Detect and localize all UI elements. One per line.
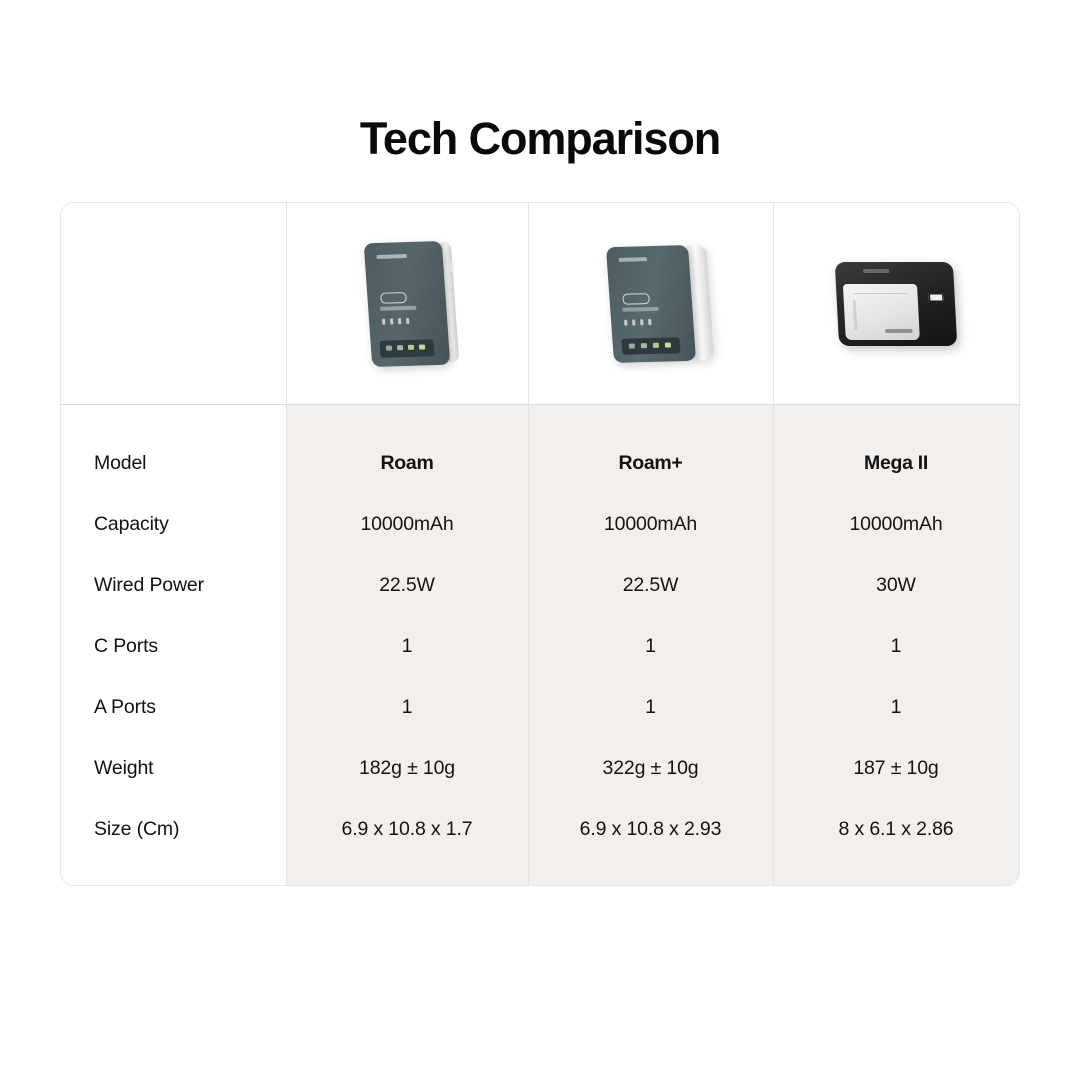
cell-roam-plus: 6.9 x 10.8 x 2.93 [528, 818, 773, 841]
image-row-empty-corner [61, 203, 286, 404]
comparison-page: Tech Comparison [0, 0, 1080, 1080]
roam-side-button [449, 262, 454, 271]
row-label: Model [61, 452, 286, 475]
row-label: Wired Power [61, 574, 286, 597]
roam-plus-badge [622, 293, 650, 305]
product-image-cell-roam [286, 203, 528, 404]
roam-plus-led-indicators [624, 318, 651, 325]
roam-plus-capacity-text [622, 306, 658, 311]
mega-ii-logo [885, 328, 912, 332]
row-label: Capacity [61, 513, 286, 536]
row-label: A Ports [61, 696, 286, 719]
row-label: C Ports [61, 635, 286, 658]
mega-ii-usb-port [928, 293, 943, 302]
cell-mega-ii: 8 x 6.1 x 2.86 [773, 818, 1019, 841]
cell-mega-ii: 30W [773, 574, 1019, 597]
table-row: Model Roam Roam+ Mega II [61, 433, 1019, 494]
cell-roam: 182g ± 10g [286, 757, 528, 780]
table-row: A Ports 1 1 1 [61, 677, 1019, 738]
roam-badge [380, 292, 407, 304]
roam-plus-body [605, 244, 695, 362]
row-label: Weight [61, 757, 286, 780]
roam-port-bar [380, 339, 435, 358]
roam-brand-mark [377, 254, 407, 259]
cell-roam-plus: Roam+ [528, 452, 773, 475]
page-title: Tech Comparison [0, 113, 1080, 165]
table-row: Capacity 10000mAh 10000mAh 10000mAh [61, 494, 1019, 555]
cell-mega-ii: 187 ± 10g [773, 757, 1019, 780]
mega-ii-front-face [843, 284, 920, 340]
table-row: C Ports 1 1 1 [61, 616, 1019, 677]
mega-ii-seam [853, 293, 907, 294]
roam-plus-port-bar [621, 337, 680, 355]
cell-roam-plus: 1 [528, 696, 773, 719]
roam-led-indicators [382, 317, 409, 324]
mega-ii-slot [853, 300, 858, 330]
cell-roam-plus: 1 [528, 635, 773, 658]
mega-ii-top-mark [863, 269, 889, 273]
product-image-cell-mega-ii [773, 203, 1019, 404]
product-image-row [61, 203, 1019, 404]
cell-mega-ii: Mega II [773, 452, 1019, 475]
roam-capacity-text [380, 305, 416, 310]
power-bank-mega-ii-image [835, 262, 958, 346]
roam-plus-side-button [699, 264, 704, 273]
cell-roam-plus: 10000mAh [528, 513, 773, 536]
table-row: Size (Cm) 6.9 x 10.8 x 1.7 6.9 x 10.8 x … [61, 799, 1019, 860]
product-image-cell-roam-plus [528, 203, 773, 404]
cell-mega-ii: 1 [773, 696, 1019, 719]
roam-body [364, 240, 451, 366]
table-row: Wired Power 22.5W 22.5W 30W [61, 555, 1019, 616]
cell-roam: 6.9 x 10.8 x 1.7 [286, 818, 528, 841]
cell-mega-ii: 1 [773, 635, 1019, 658]
comparison-table: Model Roam Roam+ Mega II Capacity 10000m… [60, 202, 1020, 886]
cell-roam: Roam [286, 452, 528, 475]
cell-roam: 22.5W [286, 574, 528, 597]
row-label: Size (Cm) [61, 818, 286, 841]
cell-roam-plus: 322g ± 10g [528, 757, 773, 780]
cell-roam: 1 [286, 696, 528, 719]
cell-roam: 1 [286, 635, 528, 658]
cell-roam: 10000mAh [286, 513, 528, 536]
power-bank-roam-image [364, 240, 451, 366]
cell-mega-ii: 10000mAh [773, 513, 1019, 536]
spec-rows: Model Roam Roam+ Mega II Capacity 10000m… [61, 405, 1019, 885]
power-bank-roam-plus-image [605, 244, 695, 362]
roam-plus-brand-mark [618, 257, 646, 262]
table-row: Weight 182g ± 10g 322g ± 10g 187 ± 10g [61, 738, 1019, 799]
cell-roam-plus: 22.5W [528, 574, 773, 597]
